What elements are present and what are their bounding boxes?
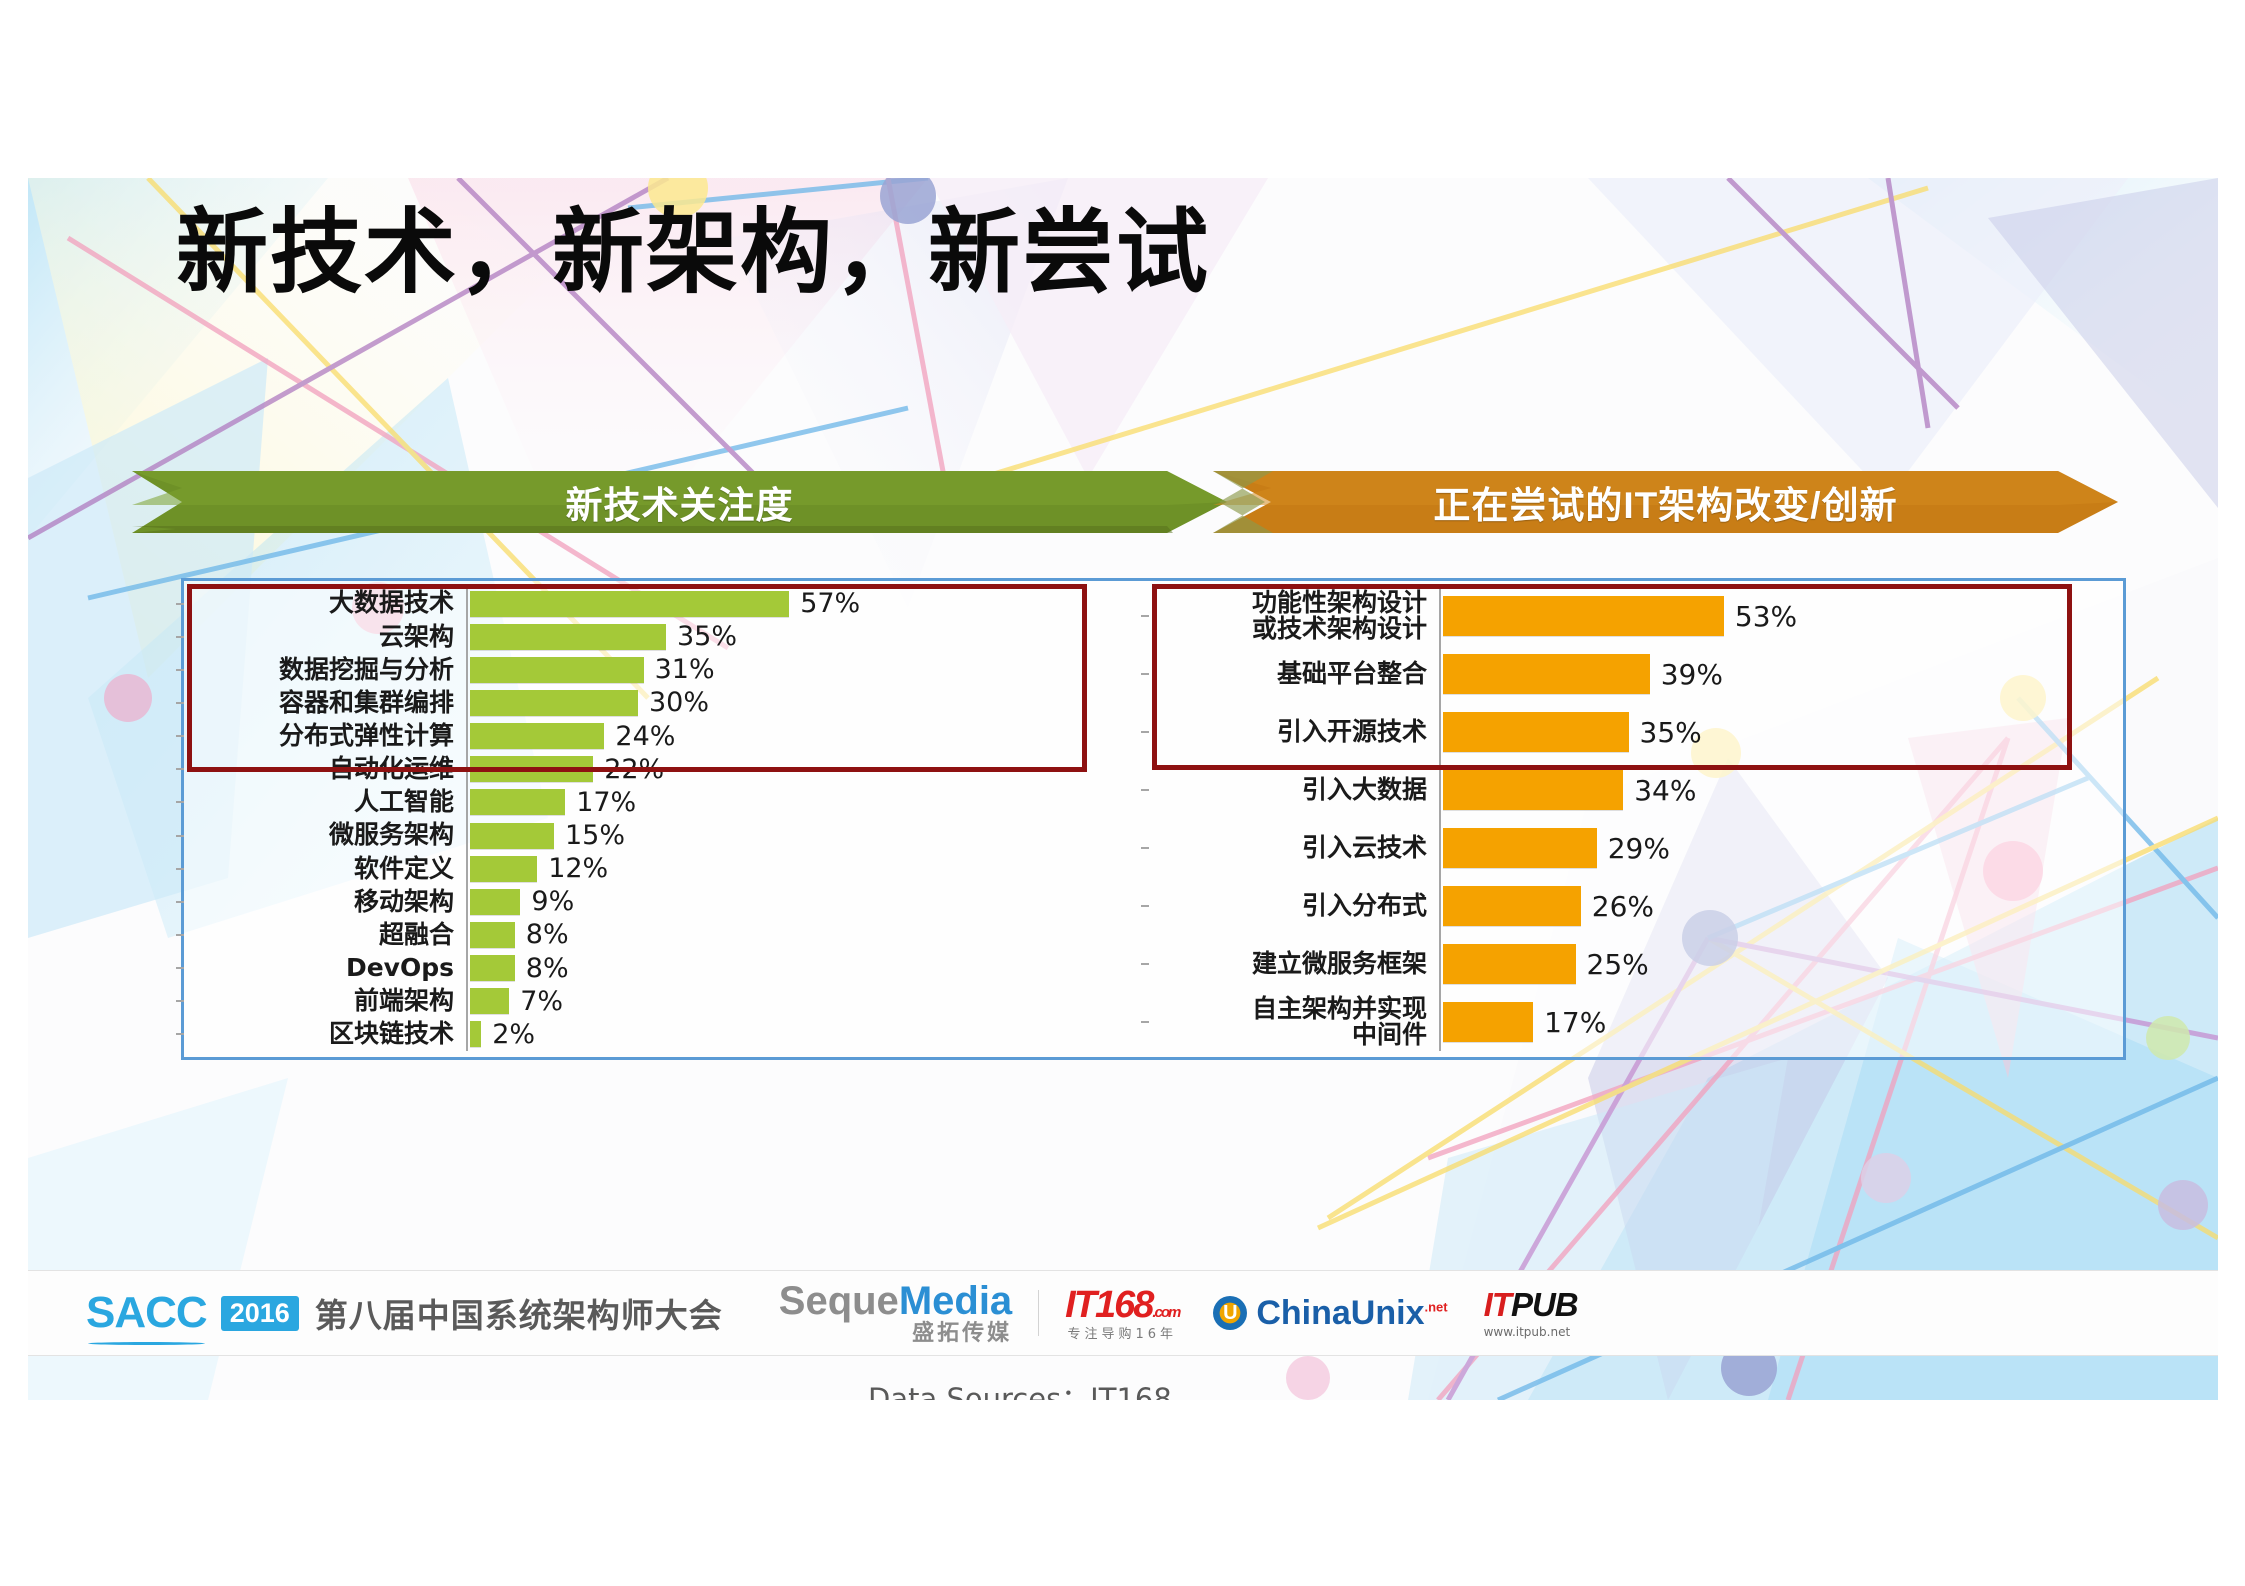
- chart-it-arch-change: 功能性架构设计 或技术架构设计53%基础平台整合39%引入开源技术35%引入大数…: [1149, 581, 2124, 1057]
- chart-row-label: 移动架构: [184, 889, 466, 915]
- chart-value-label: 2%: [492, 1019, 535, 1050]
- chart-bar: [470, 889, 520, 915]
- chart-value-label: 17%: [1544, 1006, 1606, 1039]
- chart-value-label: 8%: [526, 953, 569, 984]
- chart-bar-wrap: 53%: [1439, 596, 2124, 636]
- chart-row: 建立微服务框架25%: [1149, 935, 2124, 993]
- chart-row-label: 数据挖掘与分析: [184, 657, 466, 683]
- chart-value-label: 7%: [520, 986, 563, 1017]
- chart-row: 引入开源技术35%: [1149, 703, 2124, 761]
- chart-value-label: 26%: [1592, 890, 1654, 923]
- chart-value-label: 9%: [531, 886, 574, 917]
- banner-it-arch-change: 正在尝试的IT架构改变/创新: [1213, 471, 2118, 533]
- chart-row-label: 超融合: [184, 922, 466, 948]
- chart-row-label: 引入分布式: [1149, 893, 1439, 919]
- axis-tick: [1141, 615, 1149, 617]
- chinaunix-mark-icon: U: [1213, 1296, 1247, 1330]
- chart-bar: [470, 856, 537, 882]
- chart-bar-wrap: 9%: [466, 886, 1114, 917]
- footer-divider: [1038, 1290, 1039, 1336]
- chart-bar-wrap: 29%: [1439, 828, 2124, 868]
- chart-bar-wrap: 12%: [466, 853, 1114, 884]
- chart-row-label: 容器和集群编排: [184, 690, 466, 716]
- chart-row-label: 大数据技术: [184, 590, 466, 616]
- chart-value-label: 35%: [1640, 716, 1702, 749]
- seque-part2: Media: [899, 1279, 1012, 1323]
- chart-row-label: 云架构: [184, 624, 466, 650]
- chart-bar-wrap: 25%: [1439, 944, 2124, 984]
- itpub-url: www.itpub.net: [1484, 1326, 1578, 1338]
- charts-panel: 大数据技术57%云架构35%数据挖掘与分析31%容器和集群编排30%分布式弹性计…: [181, 578, 2126, 1060]
- chart-bar: [470, 624, 666, 650]
- axis-tick: [1141, 905, 1149, 907]
- left-chart-rows: 大数据技术57%云架构35%数据挖掘与分析31%容器和集群编排30%分布式弹性计…: [184, 587, 1114, 1051]
- right-chart-rows: 功能性架构设计 或技术架构设计53%基础平台整合39%引入开源技术35%引入大数…: [1149, 587, 2124, 1051]
- chart-row-label: 前端架构: [184, 988, 466, 1014]
- axis-tick: [176, 603, 184, 605]
- chart-new-tech-attention: 大数据技术57%云架构35%数据挖掘与分析31%容器和集群编排30%分布式弹性计…: [184, 581, 1114, 1057]
- chart-bar-wrap: 35%: [1439, 712, 2124, 752]
- axis-tick: [1141, 731, 1149, 733]
- chart-value-label: 24%: [615, 721, 675, 752]
- axis-tick: [176, 735, 184, 737]
- data-source-note: Data Sources：IT168: [868, 1376, 1172, 1400]
- axis-tick: [1141, 847, 1149, 849]
- chart-bar: [1443, 654, 1650, 694]
- chart-row: 引入分布式26%: [1149, 877, 2124, 935]
- banner-green-label: 新技术关注度: [566, 475, 794, 529]
- itpub-logo: ITPUB www.itpub.net: [1484, 1288, 1578, 1338]
- chart-bar-wrap: 34%: [1439, 770, 2124, 810]
- chart-value-label: 35%: [677, 621, 737, 652]
- chart-bar: [470, 1021, 481, 1047]
- chart-row: 超融合8%: [184, 918, 1114, 951]
- chart-bar-wrap: 31%: [466, 654, 1114, 685]
- chart-value-label: 31%: [655, 654, 715, 685]
- seque-part1: Seque: [779, 1279, 899, 1323]
- chart-row: 移动架构9%: [184, 885, 1114, 918]
- axis-tick: [176, 801, 184, 803]
- axis-tick: [1141, 673, 1149, 675]
- chart-row-label: 人工智能: [184, 789, 466, 815]
- axis-tick: [176, 868, 184, 870]
- chart-row: 云架构35%: [184, 620, 1114, 653]
- chart-bar-wrap: 57%: [466, 588, 1114, 619]
- chinaunix-tld: .net: [1424, 1299, 1447, 1314]
- chart-value-label: 29%: [1608, 832, 1670, 865]
- chart-bar: [470, 922, 515, 948]
- axis-tick: [176, 934, 184, 936]
- chart-row-label: 分布式弹性计算: [184, 723, 466, 749]
- chart-row: 分布式弹性计算24%: [184, 720, 1114, 753]
- chart-bar: [1443, 712, 1629, 752]
- axis-tick: [176, 669, 184, 671]
- chart-bar-wrap: 30%: [466, 687, 1114, 718]
- axis-tick: [1141, 1021, 1149, 1023]
- banner-orange-label: 正在尝试的IT架构改变/创新: [1433, 475, 1897, 529]
- sequemedia-logo: SequeMedia 盛拓传媒: [779, 1281, 1012, 1345]
- chart-bar-wrap: 26%: [1439, 886, 2124, 926]
- axis-tick: [176, 835, 184, 837]
- chart-value-label: 17%: [576, 787, 636, 818]
- it168-name: IT168: [1065, 1284, 1152, 1326]
- chart-value-label: 25%: [1587, 948, 1649, 981]
- chart-bar: [1443, 596, 1724, 636]
- chart-row-label: 引入大数据: [1149, 777, 1439, 803]
- chinaunix-logo: U ChinaUnix.net: [1213, 1294, 1447, 1333]
- sacc-logo: SACC: [86, 1288, 207, 1338]
- itpub-part2: PUB: [1511, 1286, 1578, 1323]
- chart-bar: [470, 823, 554, 849]
- chart-row-label: 软件定义: [184, 856, 466, 882]
- chart-bar: [470, 591, 789, 617]
- it168-tagline: 专注导购16年: [1065, 1328, 1179, 1341]
- chart-row: 数据挖掘与分析31%: [184, 653, 1114, 686]
- chart-value-label: 15%: [565, 820, 625, 851]
- sacc-year-badge: 2016: [221, 1296, 299, 1331]
- itpub-part1: IT: [1484, 1286, 1511, 1323]
- chart-row-label: 建立微服务框架: [1149, 951, 1439, 977]
- chart-row: 引入大数据34%: [1149, 761, 2124, 819]
- chart-value-label: 8%: [526, 919, 569, 950]
- chart-row-label: 自动化运维: [184, 756, 466, 782]
- chart-value-label: 30%: [649, 687, 709, 718]
- it168-logo: IT168.com 专注导购16年: [1065, 1286, 1179, 1341]
- axis-tick: [1141, 963, 1149, 965]
- slide-canvas: 新技术，新架构，新尝试 新技术关注度 正在尝试的IT架构改变/创新 大数据技术5…: [28, 178, 2218, 1400]
- chart-bar: [470, 690, 638, 716]
- chart-row: 微服务架构15%: [184, 819, 1114, 852]
- chart-bar-wrap: 17%: [466, 787, 1114, 818]
- chart-row-label: 基础平台整合: [1149, 661, 1439, 687]
- axis-tick: [1141, 789, 1149, 791]
- conference-name: 第八届中国系统架构师大会: [315, 1289, 723, 1337]
- chart-bar: [470, 955, 515, 981]
- axis-tick: [176, 768, 184, 770]
- chart-bar-wrap: 35%: [466, 621, 1114, 652]
- axis-tick: [176, 702, 184, 704]
- chart-row-label: 自主架构并实现 中间件: [1149, 996, 1439, 1049]
- chart-row: 人工智能17%: [184, 786, 1114, 819]
- chart-bar-wrap: 2%: [466, 1019, 1114, 1050]
- chart-bar: [1443, 886, 1581, 926]
- chart-bar: [470, 756, 593, 782]
- chart-row: 软件定义12%: [184, 852, 1114, 885]
- chart-bar-wrap: 24%: [466, 721, 1114, 752]
- seque-cn: 盛拓传媒: [779, 1323, 1012, 1345]
- chinaunix-name: ChinaUnix: [1256, 1294, 1424, 1332]
- chart-row-label: DevOps: [184, 955, 466, 981]
- chart-row-label: 微服务架构: [184, 822, 466, 848]
- chart-row: 前端架构7%: [184, 985, 1114, 1018]
- chart-row: 基础平台整合39%: [1149, 645, 2124, 703]
- axis-tick: [176, 967, 184, 969]
- chart-bar-wrap: 22%: [466, 754, 1114, 785]
- axis-tick: [176, 901, 184, 903]
- chart-bar-wrap: 39%: [1439, 654, 2124, 694]
- chart-bar-wrap: 17%: [1439, 1002, 2124, 1042]
- chart-bar-wrap: 8%: [466, 919, 1114, 950]
- chart-value-label: 57%: [800, 588, 860, 619]
- axis-tick: [176, 1000, 184, 1002]
- chart-bar-wrap: 8%: [466, 953, 1114, 984]
- banner-new-tech-attention: 新技术关注度: [132, 471, 1227, 533]
- chart-row-label: 功能性架构设计 或技术架构设计: [1149, 590, 1439, 643]
- chart-row: 功能性架构设计 或技术架构设计53%: [1149, 587, 2124, 645]
- chart-bar: [470, 657, 644, 683]
- footer-bar: SACC 2016 第八届中国系统架构师大会 SequeMedia 盛拓传媒 I…: [28, 1270, 2218, 1356]
- chart-bar: [470, 988, 509, 1014]
- chart-row-label: 引入云技术: [1149, 835, 1439, 861]
- chart-value-label: 34%: [1634, 774, 1696, 807]
- chart-row: 自动化运维22%: [184, 753, 1114, 786]
- chart-bar: [1443, 944, 1576, 984]
- chart-bar: [1443, 1002, 1533, 1042]
- chart-row: 自主架构并实现 中间件17%: [1149, 993, 2124, 1051]
- chart-bar: [1443, 828, 1597, 868]
- axis-tick: [176, 636, 184, 638]
- page-title: 新技术，新架构，新尝试: [176, 200, 1210, 306]
- chart-row: 区块链技术2%: [184, 1018, 1114, 1051]
- chart-value-label: 12%: [548, 853, 608, 884]
- chart-value-label: 53%: [1735, 600, 1797, 633]
- chart-value-label: 39%: [1661, 658, 1723, 691]
- chart-bar: [470, 723, 604, 749]
- chart-row-label: 引入开源技术: [1149, 719, 1439, 745]
- chart-bar: [470, 789, 565, 815]
- chart-row: 容器和集群编排30%: [184, 686, 1114, 719]
- chart-bar: [1443, 770, 1623, 810]
- chart-row-label: 区块链技术: [184, 1021, 466, 1047]
- chart-row: DevOps8%: [184, 952, 1114, 985]
- chart-bar-wrap: 15%: [466, 820, 1114, 851]
- chart-bar-wrap: 7%: [466, 986, 1114, 1017]
- chart-row: 大数据技术57%: [184, 587, 1114, 620]
- chart-value-label: 22%: [604, 754, 664, 785]
- it168-tld: .com: [1152, 1304, 1179, 1321]
- chart-row: 引入云技术29%: [1149, 819, 2124, 877]
- axis-tick: [176, 1033, 184, 1035]
